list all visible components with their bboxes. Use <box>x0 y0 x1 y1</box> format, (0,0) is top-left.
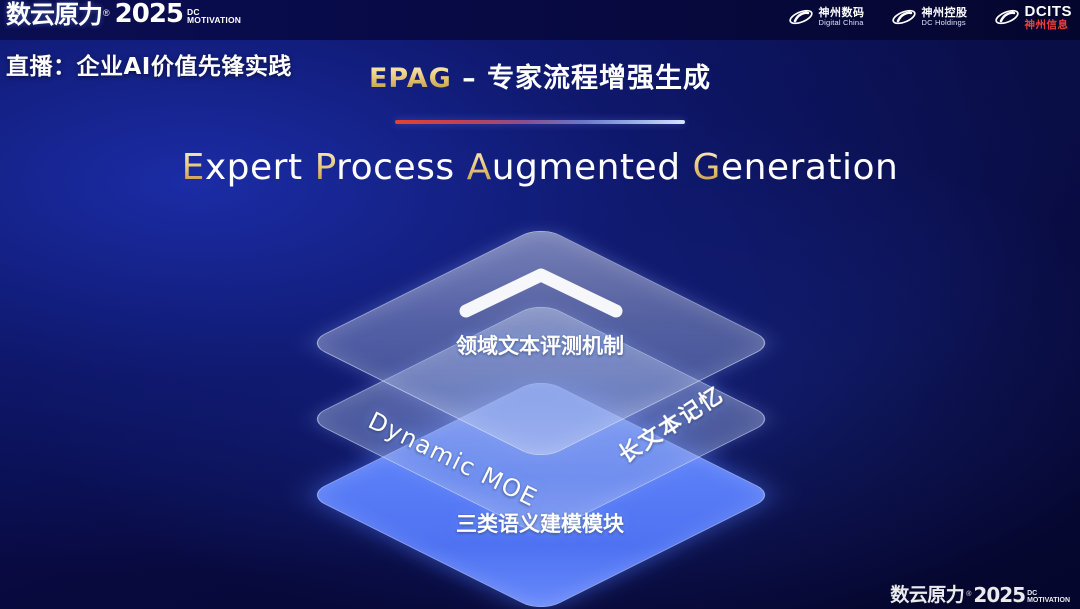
brand-year: 2025 <box>115 1 183 27</box>
expansion-word-expert: xpert <box>205 147 303 188</box>
space-2 <box>455 147 467 188</box>
live-session-title: 直播：企业AI价值先锋实践 <box>6 47 292 81</box>
title-chinese: 专家流程增强生成 <box>487 63 711 94</box>
logo-dc-holdings: 神州控股 DC Holdings <box>891 6 968 28</box>
logo-text: 神州控股 DC Holdings <box>922 8 968 27</box>
partner-logo-group: 神州数码 Digital China 神州控股 DC Holdings DCIT… <box>788 4 1073 31</box>
gradient-divider <box>395 120 685 124</box>
expansion-initial-a: A <box>467 147 492 188</box>
spiral-logo-icon <box>788 6 814 28</box>
logo-name-en: DCITS <box>1025 4 1073 20</box>
space-1 <box>303 147 315 188</box>
logo-dcits: DCITS 神州信息 <box>994 4 1073 31</box>
logo-name-en: DC Holdings <box>922 19 968 27</box>
registered-mark-icon: ® <box>103 9 110 18</box>
logo-digital-china: 神州数码 Digital China <box>788 6 865 28</box>
brand-name-cn: 数云原力 <box>6 2 102 27</box>
space-3 <box>681 147 693 188</box>
expansion-word-augmented: ugmented <box>492 147 681 188</box>
logo-name-en: Digital China <box>819 19 865 27</box>
title-acronym: EPAG <box>369 63 452 94</box>
spiral-logo-icon <box>891 6 917 28</box>
expansion-word-process: rocess <box>336 147 455 188</box>
layer-label-bottom: 三类语义建模模块 <box>0 508 1080 538</box>
logo-text: DCITS 神州信息 <box>1025 4 1073 31</box>
logo-name-cn: 神州信息 <box>1025 20 1073 31</box>
brand-sub-line2: MOTIVATION <box>187 17 241 25</box>
brand-subtitle: DC MOTIVATION <box>187 9 241 27</box>
registered-mark-icon: ® <box>966 591 971 598</box>
title-english-expansion: Expert Process Augmented Generation <box>0 147 1080 188</box>
layer-label-top: 领域文本评测机制 <box>0 330 1080 360</box>
footer-watermark-logo: 数云原力 ® 2025 DC MOTIVATION <box>890 585 1070 605</box>
spiral-logo-icon <box>994 6 1020 28</box>
slide-canvas: 数云原力 ® 2025 DC MOTIVATION 直播：企业AI价值先锋实践 … <box>0 0 1080 609</box>
watermark-sub-line2: MOTIVATION <box>1027 598 1070 604</box>
expansion-initial-p: P <box>315 147 337 188</box>
title-separator: – <box>452 63 487 94</box>
watermark-name-cn: 数云原力 <box>890 586 964 605</box>
logo-text: 神州数码 Digital China <box>819 8 865 27</box>
expansion-word-generation: eneration <box>721 147 898 188</box>
expansion-initial-g: G <box>693 147 721 188</box>
watermark-subtitle: DC MOTIVATION <box>1027 591 1070 605</box>
event-brand-logo: 数云原力 ® 2025 DC MOTIVATION <box>6 1 241 27</box>
expansion-initial-e: E <box>182 147 205 188</box>
watermark-year: 2025 <box>973 585 1025 605</box>
